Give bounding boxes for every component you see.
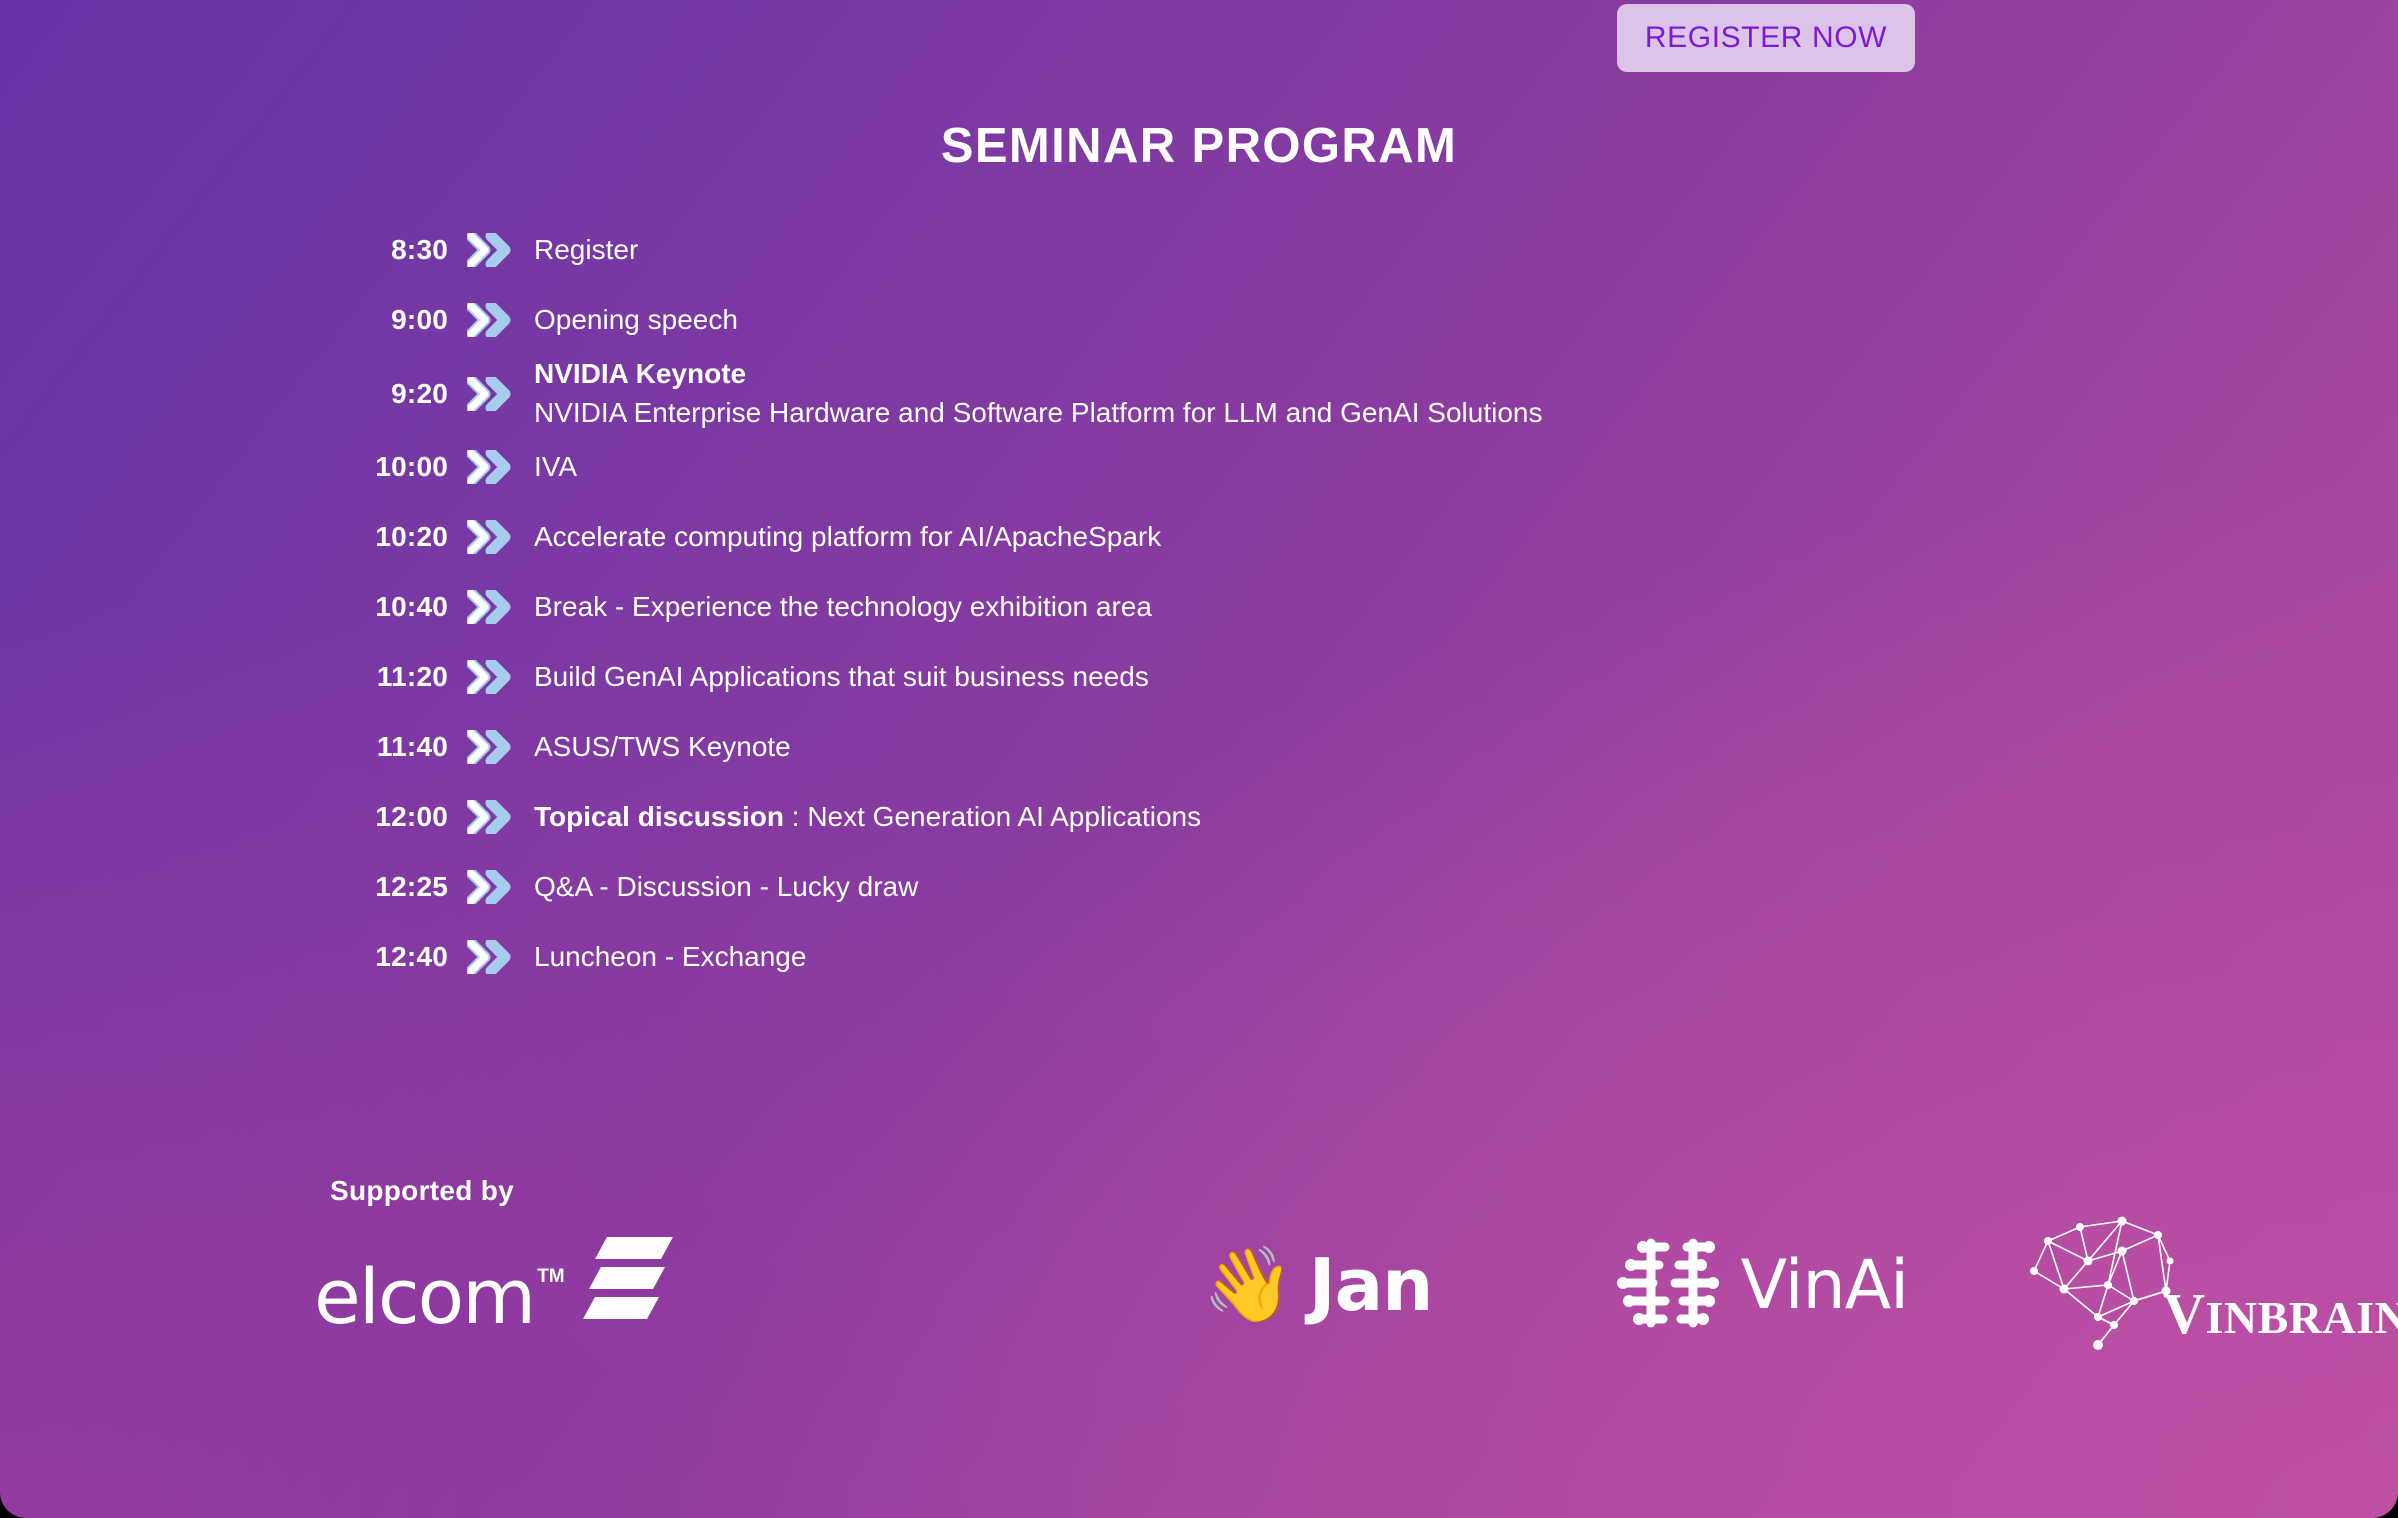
schedule-row: 12:00Topical discussion : Next Generatio… (330, 782, 2230, 852)
schedule-row-time: 11:40 (330, 731, 448, 763)
vinai-circuit-mark-icon (1613, 1233, 1725, 1338)
schedule-row-text: Topical discussion : Next Generation AI … (532, 798, 2230, 837)
sponsor-logo-vinai: VinAi (1203, 1215, 1908, 1355)
schedule-row-subtitle: : Next Generation AI Applications (784, 801, 1201, 832)
schedule-row-time: 12:40 (330, 941, 448, 973)
schedule-row: 10:00IVA (330, 432, 2230, 502)
double-chevron-icon (448, 377, 532, 411)
schedule-row-text: Break - Experience the technology exhibi… (532, 588, 2230, 627)
schedule-row: 10:40Break - Experience the technology e… (330, 572, 2230, 642)
schedule-row: 10:20Accelerate computing platform for A… (330, 502, 2230, 572)
elcom-trademark: TM (537, 1266, 564, 1288)
schedule-row-text: NVIDIA KeynoteNVIDIA Enterprise Hardware… (532, 355, 2230, 432)
schedule-row: 9:20NVIDIA KeynoteNVIDIA Enterprise Hard… (330, 355, 2230, 432)
double-chevron-icon (448, 730, 532, 764)
schedule-row-time: 10:40 (330, 591, 448, 623)
sponsor-logo-vinbrain: VINBRAIN (1908, 1215, 2378, 1355)
schedule-list: 8:30Register9:00Opening speech9:20NVIDIA… (330, 215, 2230, 992)
schedule-row-time: 8:30 (330, 234, 448, 266)
vinbrain-wordmark: VINBRAIN (2163, 1280, 2398, 1347)
sponsor-logo-elcom: elcom TM (300, 1215, 673, 1355)
seminar-program-page: REGISTER NOW SEMINAR PROGRAM 8:30Registe… (0, 0, 2398, 1518)
double-chevron-icon (448, 590, 532, 624)
schedule-row-title: Topical discussion (534, 801, 784, 832)
schedule-row-text: Register (532, 231, 2230, 270)
schedule-row-text: IVA (532, 448, 2230, 487)
schedule-row-text: Build GenAI Applications that suit busin… (532, 658, 2230, 697)
schedule-row-time: 11:20 (330, 661, 448, 693)
schedule-row-subtitle: NVIDIA Enterprise Hardware and Software … (534, 394, 2230, 433)
schedule-row: 11:40ASUS/TWS Keynote (330, 712, 2230, 782)
register-now-button[interactable]: REGISTER NOW (1617, 4, 1915, 72)
elcom-e-mark-icon (581, 1233, 673, 1326)
schedule-row-time: 12:25 (330, 871, 448, 903)
double-chevron-icon (448, 520, 532, 554)
elcom-wordmark: elcom (314, 1262, 534, 1332)
sponsor-logo-jan: 👋 Jan (673, 1215, 1203, 1355)
double-chevron-icon (448, 303, 532, 337)
double-chevron-icon (448, 660, 532, 694)
schedule-row-title: NVIDIA Keynote (534, 355, 2230, 394)
double-chevron-icon (448, 233, 532, 267)
schedule-row: 12:40Luncheon - Exchange (330, 922, 2230, 992)
supported-by-label: Supported by (330, 1175, 514, 1207)
schedule-row: 8:30Register (330, 215, 2230, 285)
schedule-row-text: Opening speech (532, 301, 2230, 340)
schedule-row-time: 9:20 (330, 378, 448, 410)
schedule-row-text: Luncheon - Exchange (532, 938, 2230, 977)
schedule-row-time: 10:00 (330, 451, 448, 483)
page-title: SEMINAR PROGRAM (0, 118, 2398, 174)
double-chevron-icon (448, 800, 532, 834)
schedule-row: 9:00Opening speech (330, 285, 2230, 355)
sponsor-logos: elcom TM 👋 Jan (300, 1215, 2130, 1355)
schedule-row-text: Q&A - Discussion - Lucky draw (532, 868, 2230, 907)
schedule-row-time: 9:00 (330, 304, 448, 336)
schedule-row: 11:20Build GenAI Applications that suit … (330, 642, 2230, 712)
schedule-row-text: ASUS/TWS Keynote (532, 728, 2230, 767)
vinai-wordmark: VinAi (1741, 1246, 1908, 1325)
schedule-row-time: 12:00 (330, 801, 448, 833)
schedule-row-time: 10:20 (330, 521, 448, 553)
double-chevron-icon (448, 940, 532, 974)
schedule-row-text: Accelerate computing platform for AI/Apa… (532, 518, 2230, 557)
double-chevron-icon (448, 450, 532, 484)
double-chevron-icon (448, 870, 532, 904)
schedule-row: 12:25Q&A - Discussion - Lucky draw (330, 852, 2230, 922)
